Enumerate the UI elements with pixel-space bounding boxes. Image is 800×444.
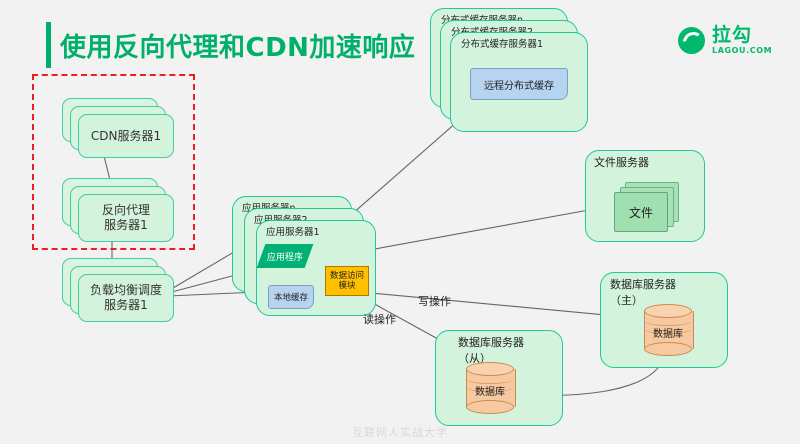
application-program-label: 应用程序 [267, 250, 303, 263]
shape-local-cache[interactable]: 本地缓存 [268, 285, 314, 309]
shape-remote-distributed-cache[interactable]: 远程分布式缓存 [470, 68, 568, 100]
shape-application-program[interactable]: 应用程序 [257, 244, 314, 268]
title-accent-bar [46, 22, 51, 68]
file-server-title: 文件服务器 [594, 156, 649, 171]
cylinder-bottom [644, 342, 692, 356]
db-slave-label: 数据库 [466, 383, 514, 398]
page-title: 使用反向代理和CDN加速响应 [60, 27, 415, 64]
footer-watermark: 互联网人实战大学 [0, 424, 800, 440]
lagou-logo: 拉勾 LAGOU.COM [678, 26, 772, 55]
shape-data-access-module[interactable]: 数据访问 模块 [325, 266, 369, 296]
edge-write-to-master [360, 292, 638, 318]
node-reverse-proxy-label: 反向代理 服务器1 [78, 194, 174, 242]
lagou-logo-icon [678, 27, 705, 54]
node-group-cdn-server[interactable]: CDN服务器1 [62, 98, 178, 160]
node-load-balancer-label: 负载均衡调度 服务器1 [78, 274, 174, 322]
node-group-reverse-proxy[interactable]: 反向代理 服务器1 [62, 178, 178, 244]
cylinder-top [644, 304, 692, 318]
data-access-module-label: 数据访问 模块 [330, 271, 364, 291]
shape-db-master-cylinder[interactable]: 数据库 [644, 304, 692, 356]
edge-label-read: 读操作 [363, 311, 396, 327]
slide-canvas: 使用反向代理和CDN加速响应 拉勾 LAGOU.COM [0, 0, 800, 444]
logo-text-cn: 拉勾 [712, 26, 772, 45]
cylinder-bottom [466, 400, 514, 414]
logo-text-en: LAGOU.COM [712, 47, 772, 55]
db-master-title: 数据库服务器 [610, 278, 676, 293]
db-slave-title: 数据库服务器 [458, 336, 524, 351]
local-cache-label: 本地缓存 [274, 291, 308, 303]
shape-db-slave-cylinder[interactable]: 数据库 [466, 362, 514, 414]
edge-lb-to-app-n [168, 249, 239, 291]
node-cdn-server-label: CDN服务器1 [78, 114, 174, 158]
edge-label-write: 写操作 [418, 293, 451, 309]
logo-wordmark: 拉勾 LAGOU.COM [712, 26, 772, 55]
file-doc-front[interactable]: 文件 [614, 192, 668, 232]
app-server-label-1: 应用服务器1 [266, 224, 320, 238]
cache-server-label-1: 分布式缓存服务器1 [461, 36, 543, 50]
remote-cache-label: 远程分布式缓存 [484, 77, 554, 92]
node-group-load-balancer[interactable]: 负载均衡调度 服务器1 [62, 258, 178, 324]
cylinder-top [466, 362, 514, 376]
db-master-label: 数据库 [644, 325, 692, 340]
db-master-subtitle: （主） [610, 294, 643, 309]
file-label: 文件 [629, 204, 653, 221]
